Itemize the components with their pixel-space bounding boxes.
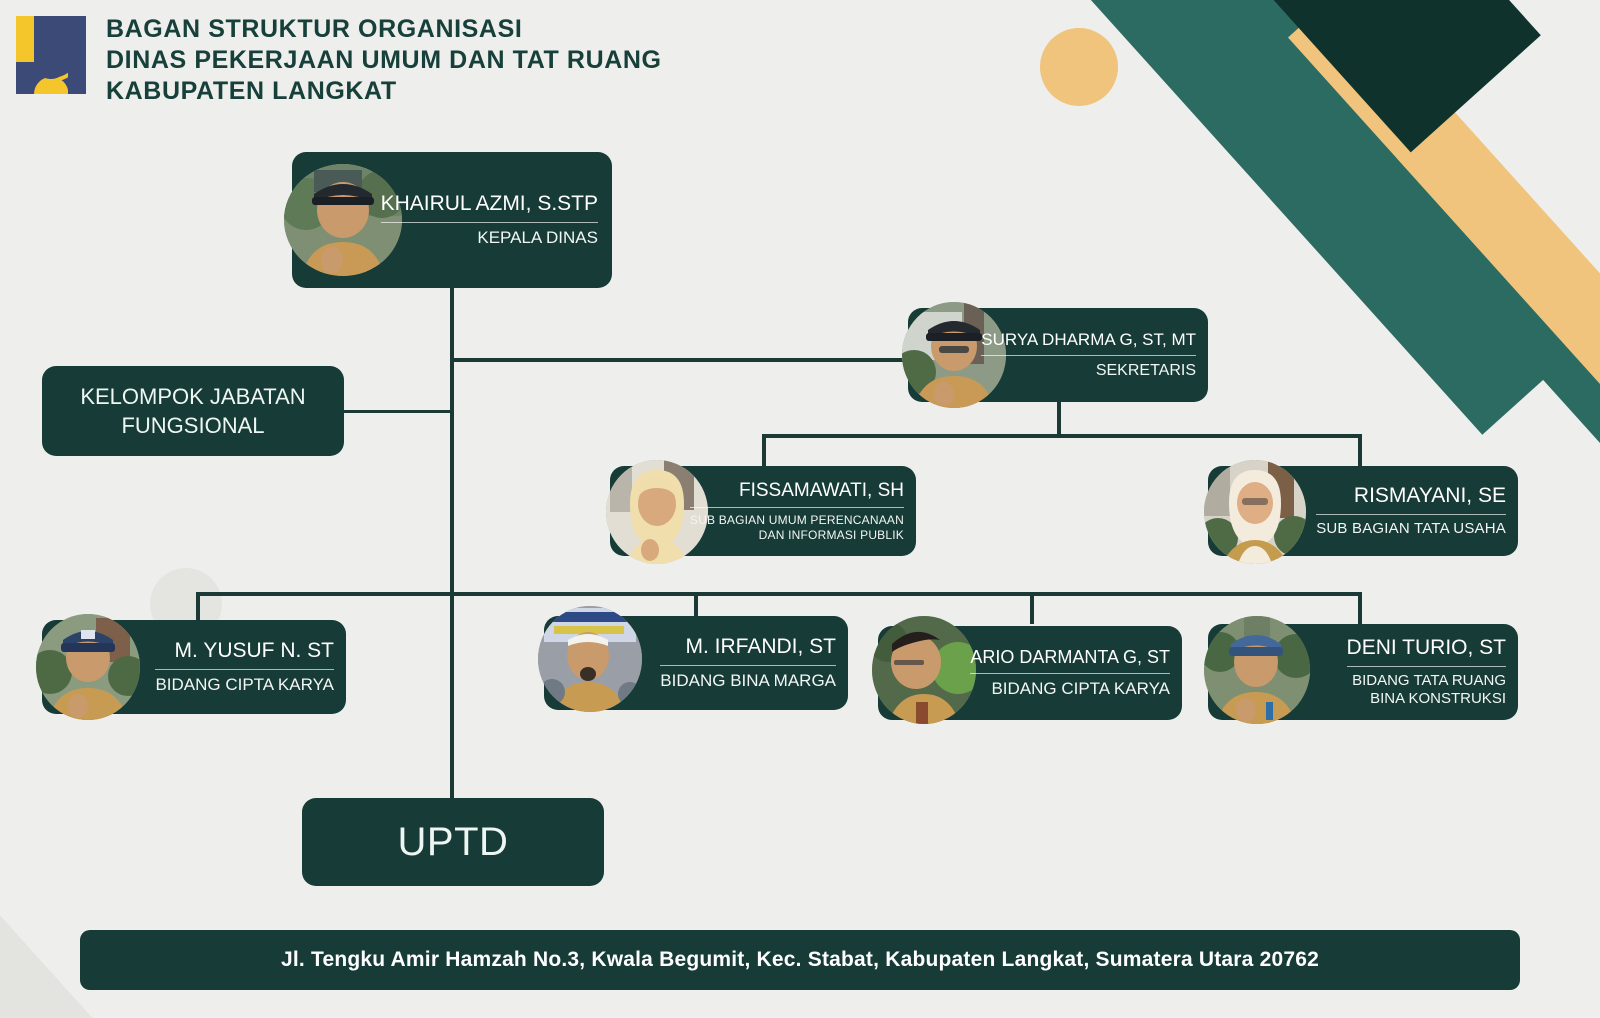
node-fissamawati-role-1: SUB BAGIAN UMUM PERENCANAAN xyxy=(690,513,904,528)
node-kelompok-jabatan-fungsional[interactable]: KELOMPOK JABATAN FUNGSIONAL xyxy=(42,366,344,456)
connector-deni-down xyxy=(1358,592,1362,624)
connector-ario-down xyxy=(1030,592,1034,624)
node-m-yusuf-role: BIDANG CIPTA KARYA xyxy=(155,675,334,696)
connector-to-kelompok-jabatan xyxy=(344,410,454,413)
node-rismayani-name: RISMAYANI, SE xyxy=(1316,484,1506,509)
connector-sekretaris-down xyxy=(1057,400,1061,436)
node-uptd-label: UPTD xyxy=(398,816,509,869)
name-divider xyxy=(970,673,1170,674)
node-deni-turio-name: DENI TURIO, ST xyxy=(1347,636,1506,661)
node-m-irfandi-role: BIDANG BINA MARGA xyxy=(660,671,836,692)
avatar-rismayani xyxy=(1204,460,1306,564)
node-m-yusuf-name: M. YUSUF N. ST xyxy=(155,639,334,664)
poster-header: BAGAN STRUKTUR ORGANISASI DINAS PEKERJAA… xyxy=(14,10,662,107)
node-ario-darmanta-name: ARIO DARMANTA G, ST xyxy=(970,647,1170,668)
avatar-deni-turio xyxy=(1204,616,1310,724)
node-uptd[interactable]: UPTD xyxy=(302,798,604,886)
name-divider xyxy=(1316,514,1506,515)
node-m-yusuf[interactable]: M. YUSUF N. ST BIDANG CIPTA KARYA xyxy=(42,620,346,714)
node-deni-turio[interactable]: DENI TURIO, ST BIDANG TATA RUANG BINA KO… xyxy=(1208,624,1518,720)
node-ario-darmanta[interactable]: ARIO DARMANTA G, ST BIDANG CIPTA KARYA xyxy=(878,626,1182,720)
node-m-irfandi-text: M. IRFANDI, ST BIDANG BINA MARGA xyxy=(660,635,836,692)
node-fissamawati-name: FISSAMAWATI, SH xyxy=(690,480,904,502)
node-fissamawati-role-2: DAN INFORMASI PUBLIK xyxy=(690,528,904,543)
name-divider xyxy=(381,222,598,223)
diagonal-dark-green xyxy=(1099,0,1578,360)
node-ario-darmanta-role: BIDANG CIPTA KARYA xyxy=(970,679,1170,700)
dark-circle-right-decoration xyxy=(1565,352,1600,422)
dark-circle-top-decoration xyxy=(1409,0,1481,62)
connector-irfandi-down xyxy=(694,592,698,618)
name-divider xyxy=(1347,666,1506,667)
pu-logo-icon xyxy=(14,10,88,98)
poster-title: BAGAN STRUKTUR ORGANISASI DINAS PEKERJAA… xyxy=(106,10,662,107)
connector-rismayani-down xyxy=(1358,434,1362,466)
node-sekretaris-text: SURYA DHARMA G, ST, MT SEKRETARIS xyxy=(981,330,1196,381)
name-divider xyxy=(660,665,836,666)
node-fissamawati[interactable]: FISSAMAWATI, SH SUB BAGIAN UMUM PERENCAN… xyxy=(610,466,916,556)
avatar-m-irfandi xyxy=(538,606,642,712)
node-kepala-dinas-name: KHAIRUL AZMI, S.STP xyxy=(381,192,598,217)
node-m-yusuf-text: M. YUSUF N. ST BIDANG CIPTA KARYA xyxy=(155,639,334,696)
node-rismayani[interactable]: RISMAYANI, SE SUB BAGIAN TATA USAHA xyxy=(1208,466,1518,556)
connector-bidang-bar xyxy=(196,592,1362,596)
node-deni-turio-text: DENI TURIO, ST BIDANG TATA RUANG BINA KO… xyxy=(1347,636,1506,708)
diagonal-dark-green-2 xyxy=(1190,0,1541,152)
avatar-ario-darmanta xyxy=(872,616,976,724)
avatar-m-yusuf xyxy=(36,614,140,720)
connector-spine-main xyxy=(450,288,454,800)
node-m-irfandi[interactable]: M. IRFANDI, ST BIDANG BINA MARGA xyxy=(544,616,848,710)
footer-address-bar: Jl. Tengku Amir Hamzah No.3, Kwala Begum… xyxy=(80,930,1520,990)
node-sekretaris-role: SEKRETARIS xyxy=(981,361,1196,381)
connector-to-sekretaris xyxy=(450,358,912,362)
node-rismayani-role: SUB BAGIAN TATA USAHA xyxy=(1316,520,1506,538)
node-sekretaris-name: SURYA DHARMA G, ST, MT xyxy=(981,330,1196,350)
node-rismayani-text: RISMAYANI, SE SUB BAGIAN TATA USAHA xyxy=(1316,484,1506,538)
diagonal-teal-lower xyxy=(1185,0,1600,473)
node-fissamawati-text: FISSAMAWATI, SH SUB BAGIAN UMUM PERENCAN… xyxy=(690,480,904,543)
name-divider xyxy=(690,507,904,508)
kelompok-line-1: KELOMPOK JABATAN xyxy=(80,382,305,411)
name-divider xyxy=(155,669,334,670)
node-sekretaris[interactable]: SURYA DHARMA G, ST, MT SEKRETARIS xyxy=(908,308,1208,402)
node-m-irfandi-name: M. IRFANDI, ST xyxy=(660,635,836,660)
node-ario-darmanta-text: ARIO DARMANTA G, ST BIDANG CIPTA KARYA xyxy=(970,647,1170,700)
node-kelompok-jabatan-label: KELOMPOK JABATAN FUNGSIONAL xyxy=(80,382,305,440)
amber-circle-decoration xyxy=(1040,28,1118,106)
diagonal-amber xyxy=(1288,0,1600,424)
node-kepala-dinas[interactable]: KHAIRUL AZMI, S.STP KEPALA DINAS xyxy=(292,152,612,288)
node-kepala-dinas-role: KEPALA DINAS xyxy=(381,228,598,249)
node-deni-turio-role-1: BIDANG TATA RUANG xyxy=(1347,672,1506,690)
footer-address-text: Jl. Tengku Amir Hamzah No.3, Kwala Begum… xyxy=(281,948,1319,972)
name-divider xyxy=(981,355,1196,356)
org-chart-poster: BAGAN STRUKTUR ORGANISASI DINAS PEKERJAA… xyxy=(0,0,1600,1018)
title-line-3: KABUPATEN LANGKAT xyxy=(106,76,662,107)
title-line-2: DINAS PEKERJAAN UMUM DAN TAT RUANG xyxy=(106,45,662,76)
diagonal-white-line xyxy=(1181,0,1600,445)
connector-sekretaris-bar xyxy=(762,434,1362,438)
node-kepala-dinas-text: KHAIRUL AZMI, S.STP KEPALA DINAS xyxy=(381,192,598,249)
connector-fissamawati-down xyxy=(762,434,766,466)
node-deni-turio-role-2: BINA KONSTRUKSI xyxy=(1347,690,1506,708)
title-line-1: BAGAN STRUKTUR ORGANISASI xyxy=(106,14,662,45)
kelompok-line-2: FUNGSIONAL xyxy=(80,411,305,440)
